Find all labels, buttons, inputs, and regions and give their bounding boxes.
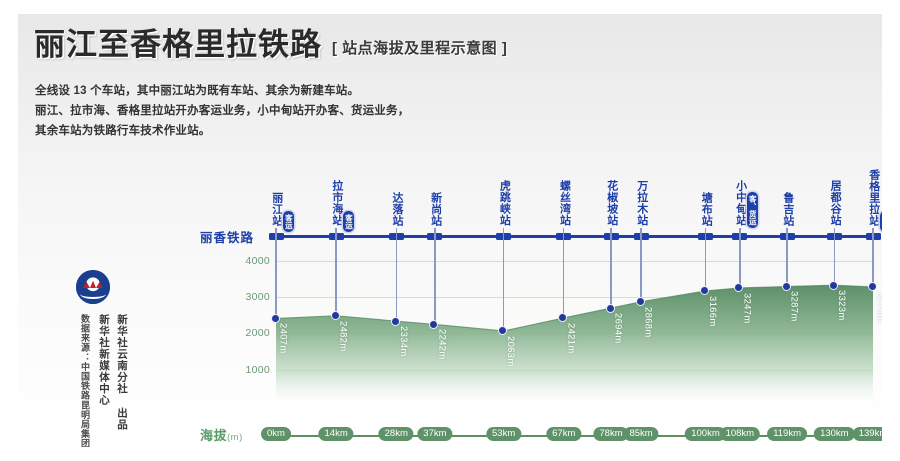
station-elevation-label: 3166m <box>707 296 718 327</box>
station-name: 虎跳峡站 <box>498 180 509 226</box>
station-service-badge: 客运 <box>343 211 354 232</box>
station-name: 新尚站 <box>429 192 440 227</box>
title-block: 丽江至香格里拉铁路 [ 站点海拔及里程示意图 ] <box>34 30 507 61</box>
km-marker[interactable]: 37km <box>417 427 452 441</box>
station-connector <box>335 228 336 316</box>
station-elevation-label: 2482m <box>338 321 349 352</box>
km-marker[interactable]: 14km <box>319 427 354 441</box>
station-name: 小中甸站 <box>734 180 745 226</box>
station-service-badge: 客运 <box>880 211 882 232</box>
elevation-axis-unit: (m) <box>227 432 243 443</box>
station-elevation-label: 3276m <box>875 292 883 323</box>
y-axis-tick: 2000 <box>245 327 270 339</box>
station-connector <box>705 228 706 291</box>
station-point[interactable] <box>782 282 791 291</box>
station-connector <box>396 228 397 321</box>
station-name: 香格里拉站 <box>867 169 878 227</box>
station-connector <box>503 228 504 331</box>
station-connector <box>275 228 276 318</box>
station-elevation-label: 3287m <box>789 291 800 322</box>
station-connector <box>640 228 641 302</box>
y-axis-tick: 1000 <box>245 364 270 376</box>
station-elevation-label: 2407m <box>278 323 289 354</box>
station-elevation-label: 2063m <box>505 336 516 367</box>
station-connector <box>563 228 564 318</box>
km-marker[interactable]: 130km <box>814 427 855 441</box>
xinhua-emblem-icon <box>76 270 110 304</box>
station-connector <box>834 228 835 285</box>
station-service-badge: 客运 <box>283 211 294 232</box>
y-axis-tick: 3000 <box>245 291 270 303</box>
km-marker[interactable]: 119km <box>767 427 807 441</box>
intro-line-1: 全线设 13 个车站，其中丽江站为既有车站、其余为新建车站。 <box>35 82 635 102</box>
credits-block: 新华社云南分社 出品 新华社新媒体中心 数据来源：中国铁路昆明局集团有限公司 <box>46 270 142 447</box>
station-elevation-label: 2421m <box>565 323 576 354</box>
station-elevation-label: 3247m <box>741 293 752 324</box>
station-point[interactable] <box>331 311 340 320</box>
station-elevation-label: 2868m <box>643 307 654 338</box>
km-marker[interactable]: 85km <box>623 427 658 441</box>
station-connector <box>872 228 873 287</box>
intro-line-2: 丽江、拉市海、香格里拉站开办客运业务，小中甸站开办客、货运业务， <box>35 102 635 122</box>
station-connector <box>610 228 611 308</box>
credit-source: 数据来源：中国铁路昆明局集团有限公司 <box>80 314 90 447</box>
station-service-badge: 客、货运 <box>747 192 758 228</box>
station-name: 居都谷站 <box>829 180 840 226</box>
station-name: 拉市海站 <box>330 180 341 226</box>
km-marker[interactable]: 108km <box>720 427 761 441</box>
station-point[interactable] <box>391 317 400 326</box>
station-point[interactable] <box>829 281 838 290</box>
station-name: 万拉木站 <box>635 180 646 226</box>
station-elevation-label: 2334m <box>398 326 409 357</box>
station-connector <box>434 228 435 324</box>
km-marker[interactable]: 28km <box>379 427 414 441</box>
page-title: 丽江至香格里拉铁路 <box>34 30 322 61</box>
km-marker[interactable]: 67km <box>546 427 581 441</box>
station-elevation-label: 2694m <box>613 313 624 344</box>
intro-paragraph: 全线设 13 个车站，其中丽江站为既有车站、其余为新建车站。 丽江、拉市海、香格… <box>35 82 635 141</box>
elevation-axis-text: 海拔 <box>200 428 227 443</box>
station-point[interactable] <box>271 314 280 323</box>
km-marker[interactable]: 139km <box>853 427 882 441</box>
credit-unit: 新华社新媒体中心 <box>98 314 110 406</box>
station-point[interactable] <box>636 297 645 306</box>
station-connector <box>739 228 740 288</box>
station-point[interactable] <box>868 282 877 291</box>
credit-producer: 新华社云南分社 出品 <box>116 314 128 431</box>
station-name: 达落站 <box>391 192 402 227</box>
station-connector <box>786 228 787 286</box>
station-name: 丽江站 <box>270 192 281 227</box>
station-elevation-label: 2242m <box>436 329 447 360</box>
page-subtitle: [ 站点海拔及里程示意图 ] <box>332 37 507 61</box>
station-name: 花椒坡站 <box>605 180 616 226</box>
infographic-poster: 丽江至香格里拉铁路 [ 站点海拔及里程示意图 ] 全线设 13 个车站，其中丽江… <box>18 14 882 447</box>
km-marker[interactable]: 53km <box>486 427 521 441</box>
elevation-chart: 1000200030004000 丽香铁路 丽江站客运2407m拉市海站客运24… <box>201 166 871 447</box>
station-point[interactable] <box>606 304 615 313</box>
elevation-axis-label: 海拔(m) <box>200 425 243 444</box>
station-name: 塘布站 <box>700 192 711 227</box>
station-name: 螺丝湾站 <box>558 180 569 226</box>
station-name: 鲁吉站 <box>781 192 792 227</box>
y-axis-tick: 4000 <box>245 255 270 267</box>
rail-line-label: 丽香铁路 <box>200 227 254 246</box>
station-elevation-label: 3323m <box>836 290 847 321</box>
km-marker[interactable]: 0km <box>261 427 291 441</box>
intro-line-3: 其余车站为铁路行车技术作业站。 <box>35 122 635 142</box>
